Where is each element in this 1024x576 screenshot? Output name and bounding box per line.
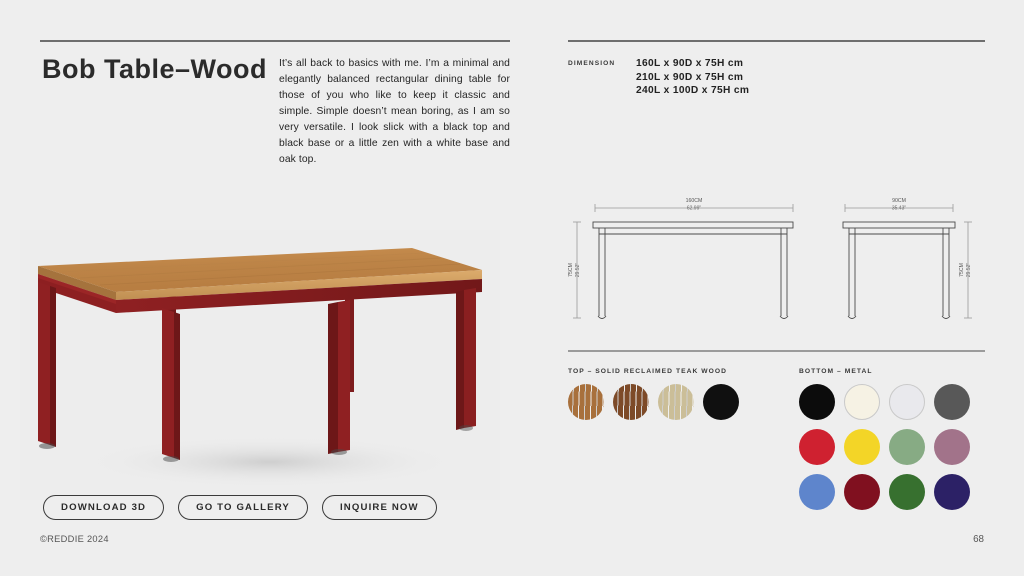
top-swatch-walnut-dark[interactable] xyxy=(613,384,649,420)
bottom-swatch-metal-white[interactable] xyxy=(889,384,925,420)
bottom-swatch-metal-yellow[interactable] xyxy=(844,429,880,465)
bottom-swatch-metal-dark-grey[interactable] xyxy=(934,384,970,420)
page-number: 68 xyxy=(973,534,984,545)
download-3d-button[interactable]: DOWNLOAD 3D xyxy=(43,495,164,520)
header-rule-left xyxy=(40,40,510,42)
bottom-swatch-metal-navy[interactable] xyxy=(934,474,970,510)
bottom-swatch-metal-cornflower-blue[interactable] xyxy=(799,474,835,510)
side-height-cm-label: 75CM xyxy=(959,263,965,277)
bottom-swatch-metal-forest-green[interactable] xyxy=(889,474,925,510)
bottom-swatch-metal-burgundy[interactable] xyxy=(844,474,880,510)
front-width-in-label: 62.99" xyxy=(687,206,702,212)
header-rule-right xyxy=(568,40,985,42)
bottom-swatch-metal-cream[interactable] xyxy=(844,384,880,420)
dimension-option: 240L x 100D x 75H cm xyxy=(636,84,749,98)
dimension-values: 160L x 90D x 75H cm 210L x 90D x 75H cm … xyxy=(636,57,749,98)
page-title: Bob Table–Wood xyxy=(42,55,267,83)
side-height-in-label: 29.52" xyxy=(966,263,972,278)
bottom-swatch-metal-red[interactable] xyxy=(799,429,835,465)
dimension-option: 210L x 90D x 75H cm xyxy=(636,71,749,85)
front-height-cm-label: 75CM xyxy=(568,263,574,277)
bottom-swatch-metal-black[interactable] xyxy=(799,384,835,420)
top-swatch-teak-natural[interactable] xyxy=(568,384,604,420)
front-height-in-label: 29.52" xyxy=(575,263,581,278)
side-width-in-label: 35.43" xyxy=(892,206,907,212)
copyright: ©REDDIE 2024 xyxy=(40,534,109,544)
product-photo xyxy=(20,230,500,500)
top-swatch-oak-bleached[interactable] xyxy=(658,384,694,420)
catalog-page: Bob Table–Wood It’s all back to basics w… xyxy=(0,0,1024,576)
swatch-section-divider xyxy=(568,350,985,352)
front-width-cm-label: 160CM xyxy=(686,198,703,204)
top-swatch-row xyxy=(568,384,768,420)
dimension-option: 160L x 90D x 75H cm xyxy=(636,57,749,71)
bottom-swatch-grid xyxy=(799,384,988,510)
bottom-swatch-metal-mauve[interactable] xyxy=(934,429,970,465)
bottom-swatch-metal-sage-green[interactable] xyxy=(889,429,925,465)
front-elevation-drawing: 160CM 62.99" 75CM 29.52" xyxy=(565,190,805,335)
technical-drawings: 160CM 62.99" 75CM 29.52" xyxy=(565,190,990,335)
side-elevation-drawing: 90CM 35.43" 75CM 29.52" xyxy=(823,190,990,335)
top-material-heading: TOP – SOLID RECLAIMED TEAK WOOD xyxy=(568,368,768,375)
product-description: It’s all back to basics with me. I’m a m… xyxy=(279,56,510,168)
go-to-gallery-button[interactable]: GO TO GALLERY xyxy=(178,495,308,520)
dimension-label: DIMENSION xyxy=(568,60,615,67)
top-swatch-wood-black[interactable] xyxy=(703,384,739,420)
action-buttons: DOWNLOAD 3D GO TO GALLERY INQUIRE NOW xyxy=(43,495,437,520)
top-material-section: TOP – SOLID RECLAIMED TEAK WOOD xyxy=(568,368,768,420)
bottom-material-heading: BOTTOM – METAL xyxy=(799,368,989,375)
inquire-now-button[interactable]: INQUIRE NOW xyxy=(322,495,437,520)
side-width-cm-label: 90CM xyxy=(892,198,906,204)
bottom-material-section: BOTTOM – METAL xyxy=(799,368,989,510)
